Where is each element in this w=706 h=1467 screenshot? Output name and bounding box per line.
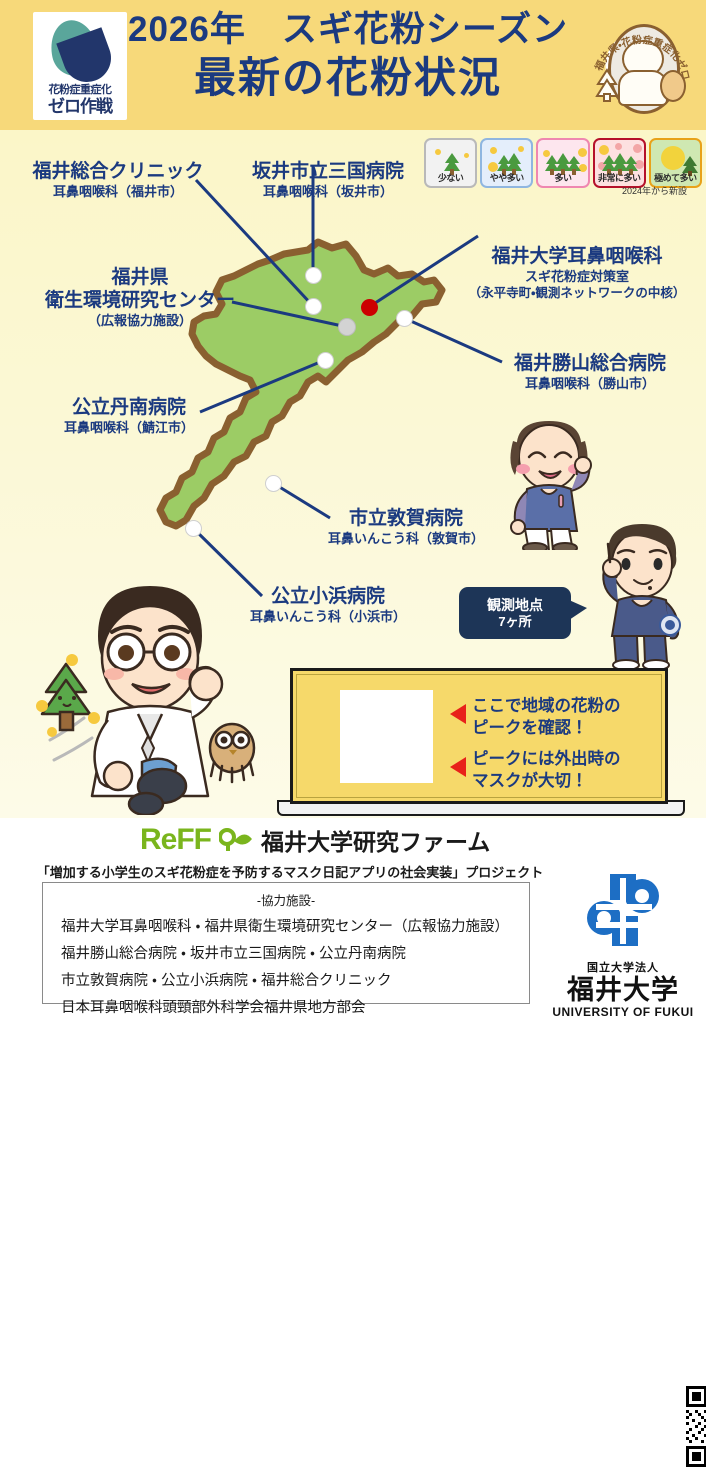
legend-label: 少ない xyxy=(438,171,464,184)
legend-item-ooi: 多い xyxy=(536,138,589,188)
label-sub: 耳鼻咽喉科（鯖江市） xyxy=(18,419,240,436)
qr-code-bits xyxy=(686,1386,706,1467)
legend-label: 非常に多い xyxy=(598,171,641,184)
label-fukui-eisei-center[interactable]: 福井県 衛生環境研究センター （広報協力施設） xyxy=(20,266,260,329)
legend-label: やや多い xyxy=(490,171,524,184)
qr-message-2-line-1: ピークには外出時の xyxy=(472,749,621,770)
pointer-arrow-1-icon xyxy=(450,704,466,724)
reff-leaf-icon xyxy=(219,828,253,852)
legend-label: 多い xyxy=(555,171,572,184)
label-name: 市立敦賀病院 xyxy=(296,507,516,530)
cooperating-facilities-line: 日本耳鼻咽喉科頭頸部外科学会福井県地方部会 xyxy=(61,996,529,1017)
cooperating-facilities-heading: -協力施設- xyxy=(43,890,529,909)
map-marker-fukui-sogo-clinic[interactable] xyxy=(305,298,322,315)
male-staff-character-illustration xyxy=(590,520,695,670)
label-sub-2: （永平寺町・観測ネットワークの中核） xyxy=(452,285,702,301)
poster-header: 花粉症重症化 ゼロ作戦 2026年 スギ花粉シーズン 最新の花粉状況 福井県・花… xyxy=(0,0,706,130)
title-line-1: 2026年 スギ花粉シーズン xyxy=(128,8,568,52)
seal-ring-text: 福井県・花粉症重症化ゼロ作戦 xyxy=(588,14,694,118)
qr-message-1-line-1: ここで地域の花粉の xyxy=(472,696,621,717)
qr-message-1-line-2: ピークを確認！ xyxy=(472,718,588,739)
pollen-level-legend: 少ない やや多い 多い xyxy=(424,138,702,184)
emblem-label-line2: ゼロ作戦 xyxy=(48,97,112,116)
uf-legal-name: 国立大学法人 xyxy=(548,959,698,975)
university-of-fukui-logo: 国立大学法人 福井大学 UNIVERSITY OF FUKUI xyxy=(548,872,698,1019)
kafunsho-zero-sakusen-emblem: 花粉症重症化 ゼロ作戦 xyxy=(33,12,127,120)
svg-text:福井県・花粉症重症化ゼロ作戦: 福井県・花粉症重症化ゼロ作戦 xyxy=(588,14,691,81)
legend-item-sukunai: 少ない xyxy=(424,138,477,188)
label-sub: 耳鼻咽喉科（勝山市） xyxy=(480,375,700,392)
label-fukui-katsuyama-hospital[interactable]: 福井勝山総合病院 耳鼻咽喉科（勝山市） xyxy=(480,352,700,392)
emblem-label-line1: 花粉症重症化 xyxy=(49,84,112,97)
legend-note: 2024年から新設 xyxy=(622,184,687,197)
uf-name-jp: 福井大学 xyxy=(548,975,698,1005)
label-fukui-univ-jibi[interactable]: 福井大学耳鼻咽喉科 スギ花粉症対策室 （永平寺町・観測ネットワークの中核） xyxy=(452,245,702,301)
legend-label: 極めて多い xyxy=(654,171,697,184)
label-sakai-mikuni-hospital[interactable]: 坂井市立三国病院 耳鼻咽喉科（坂井市） xyxy=(228,160,428,200)
callout-line-2: 7ヶ所 xyxy=(498,614,531,630)
label-sub: 耳鼻咽喉科（坂井市） xyxy=(228,183,428,200)
label-sub: 耳鼻咽喉科（福井市） xyxy=(8,183,228,200)
cooperating-facilities-box: -協力施設- 福井大学耳鼻咽喉科 ・ 福井県衛生環境研究センター（広報協力施設）… xyxy=(42,882,530,1004)
title-line-2: 最新の花粉状況 xyxy=(128,52,568,104)
map-marker-shiritsu-tsuruga-hospital[interactable] xyxy=(265,475,282,492)
uf-name-en: UNIVERSITY OF FUKUI xyxy=(548,1005,698,1019)
poster-footer: ReFF 福井大学研究ファーム 「増加する小学生のスギ花粉症を予防するマスク日記… xyxy=(0,818,706,1024)
label-kouritsu-tannan-hospital[interactable]: 公立丹南病院 耳鼻咽喉科（鯖江市） xyxy=(18,396,240,436)
qr-message-2-line-2: マスクが大切！ xyxy=(472,771,588,792)
label-name: 福井勝山総合病院 xyxy=(480,352,700,375)
label-sub: （広報協力施設） xyxy=(20,312,260,329)
map-marker-kouritsu-tannan-hospital[interactable] xyxy=(317,352,334,369)
qr-code[interactable] xyxy=(340,690,433,783)
poster-root: 花粉症重症化 ゼロ作戦 2026年 スギ花粉シーズン 最新の花粉状況 福井県・花… xyxy=(0,0,706,1024)
cooperating-facilities-line: 市立敦賀病院 ・ 公立小浜病院 ・ 福井総合クリニック xyxy=(61,969,529,990)
legend-item-yaya-ooi: やや多い xyxy=(480,138,533,188)
label-name: 福井大学耳鼻咽喉科 xyxy=(452,245,702,268)
doctor-character-illustration xyxy=(20,580,280,815)
reff-brand: ReFF 福井大学研究ファーム xyxy=(140,823,490,857)
cooperating-facilities-line: 福井大学耳鼻咽喉科 ・ 福井県衛生環境研究センター（広報協力施設） xyxy=(61,915,529,936)
legend-item-kiwamete-ooi: 極めて多い xyxy=(649,138,702,188)
pointer-arrow-2-icon xyxy=(450,757,466,777)
label-fukui-sogo-clinic[interactable]: 福井総合クリニック 耳鼻咽喉科（福井市） xyxy=(8,160,228,200)
reff-farm-name: 福井大学研究ファーム xyxy=(261,823,490,857)
nurse-character-illustration xyxy=(495,415,605,550)
map-marker-fukui-eisei-center[interactable] xyxy=(338,318,356,336)
callout-line-1: 観測地点 xyxy=(487,596,543,614)
reff-wordmark: ReFF xyxy=(140,824,211,856)
project-subtitle: 「増加する小学生のスギ花粉症を予防するマスク日記アプリの社会実装」プロジェクト xyxy=(0,862,580,881)
label-name: 坂井市立三国病院 xyxy=(228,160,428,183)
map-marker-sakai-mikuni-hospital[interactable] xyxy=(305,267,322,284)
label-sub: 耳鼻いんこう科（敦賀市） xyxy=(296,530,516,547)
label-name: 福井総合クリニック xyxy=(8,160,228,183)
label-sub: スギ花粉症対策室 xyxy=(452,268,702,285)
emblem-mark-icon xyxy=(47,18,113,84)
observation-points-callout: 観測地点 7ヶ所 xyxy=(459,587,571,639)
label-name: 公立丹南病院 xyxy=(18,396,240,419)
map-marker-kouritsu-obama-hospital[interactable] xyxy=(185,520,202,537)
map-marker-fukui-univ-jibi[interactable] xyxy=(361,299,378,316)
mascot-seal-icon: 福井県・花粉症重症化ゼロ作戦 xyxy=(588,14,694,118)
label-name: 福井県 xyxy=(20,266,260,289)
uf-emblem-icon xyxy=(582,872,664,950)
callout-tail xyxy=(569,600,587,620)
label-name-2: 衛生環境研究センター xyxy=(20,289,260,312)
legend-item-hijou-ni-ooi: 非常に多い xyxy=(593,138,646,188)
poster-title: 2026年 スギ花粉シーズン 最新の花粉状況 xyxy=(128,8,568,104)
cooperating-facilities-line: 福井勝山総合病院 ・ 坂井市立三国病院 ・ 公立丹南病院 xyxy=(61,942,529,963)
label-shiritsu-tsuruga-hospital[interactable]: 市立敦賀病院 耳鼻いんこう科（敦賀市） xyxy=(296,507,516,547)
map-marker-fukui-katsuyama-hospital[interactable] xyxy=(396,310,413,327)
